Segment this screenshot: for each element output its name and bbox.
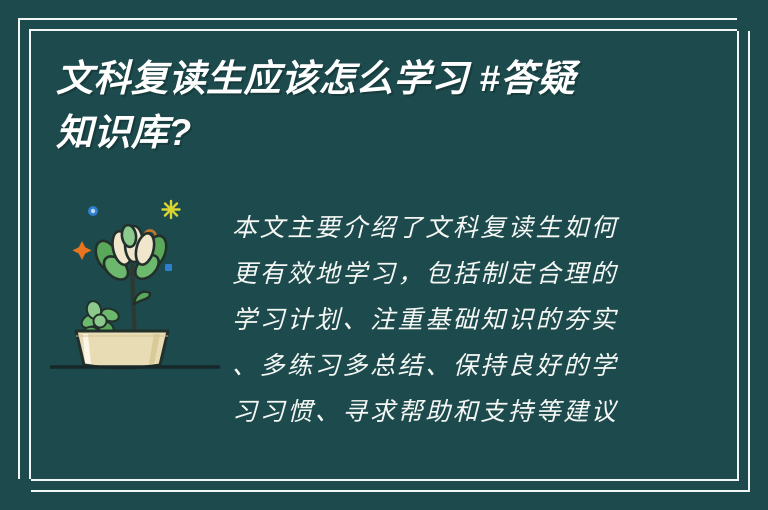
title-line-1: 文科复读生应该怎么学习 #答疑 xyxy=(56,52,696,106)
body-line-4: 、多练习多总结、保持良好的学 xyxy=(232,344,662,390)
body-line-3: 学习计划、注重基础知识的夯实 xyxy=(232,298,662,344)
body-paragraph: 本文主要介绍了文科复读生如何 更有效地学习，包括制定合理的 学习计划、注重基础知… xyxy=(232,206,662,436)
flower-pot xyxy=(76,331,168,368)
page-title: 文科复读生应该怎么学习 #答疑 知识库? xyxy=(56,52,696,160)
body-line-2: 更有效地学习，包括制定合理的 xyxy=(232,252,662,298)
stem-leaf xyxy=(134,292,150,304)
body-line-5: 习习惯、寻求帮助和支持等建议 xyxy=(232,390,662,436)
frame-corner-mask-bottom-left xyxy=(18,479,31,492)
title-line-2: 知识库? xyxy=(56,106,696,160)
blue-square-dot-icon xyxy=(165,264,172,271)
blue-dot-icon xyxy=(88,206,98,216)
poster-canvas: 文科复读生应该怎么学习 #答疑 知识库? xyxy=(0,0,768,510)
potted-flower-illustration xyxy=(50,188,220,370)
yellow-sparkle-icon xyxy=(163,201,180,218)
frame-corner-mask-top-right xyxy=(737,18,750,31)
orange-star-icon xyxy=(73,241,92,260)
body-line-1: 本文主要介绍了文科复读生如何 xyxy=(232,206,662,252)
